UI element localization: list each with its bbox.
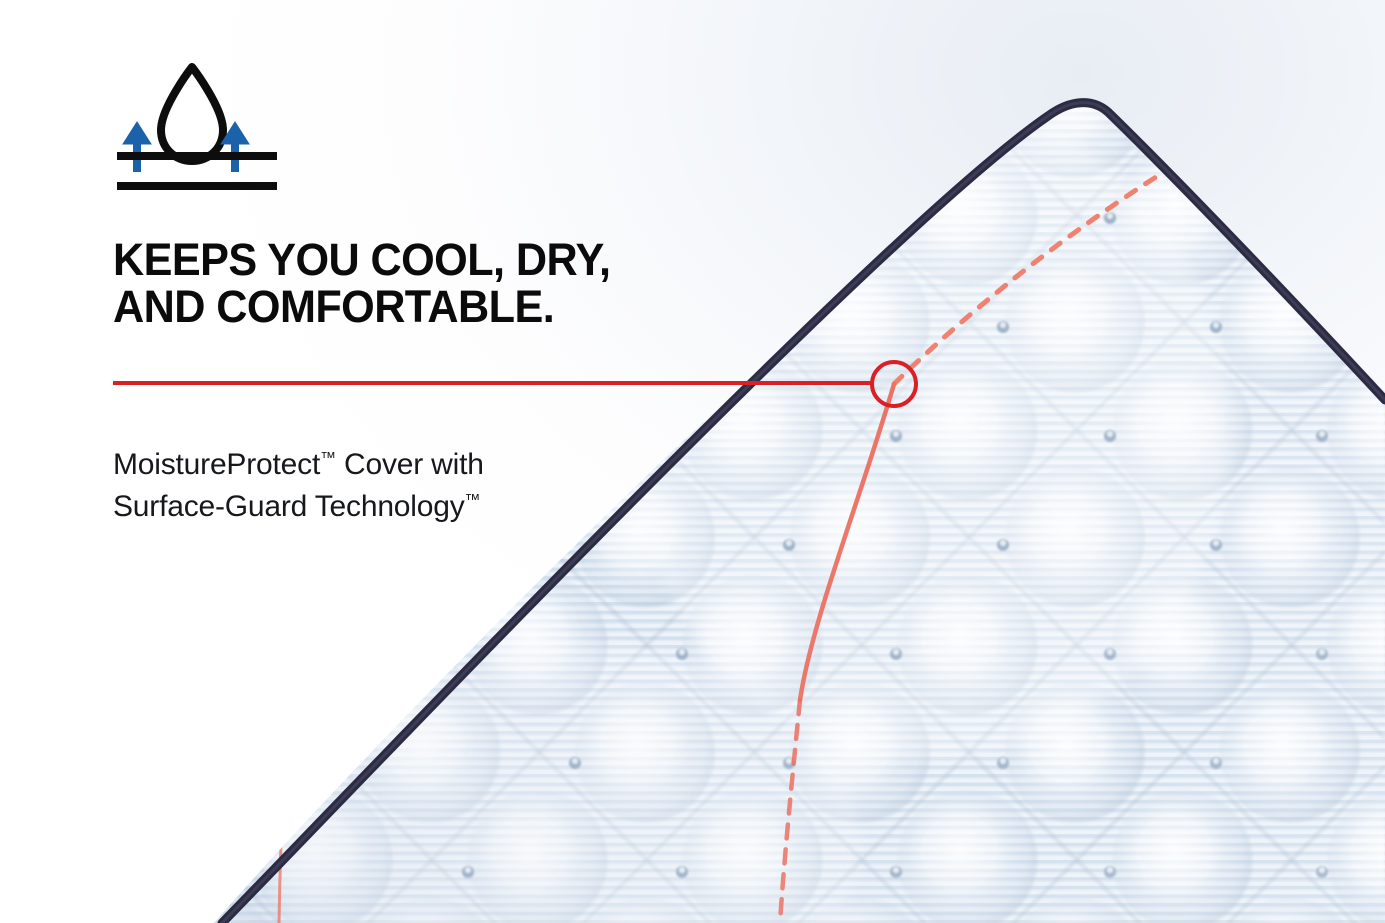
subcopy-product-name: MoistureProtect xyxy=(113,448,320,481)
subcopy-technology-name: Surface-Guard Technology xyxy=(113,490,465,523)
headline-rule-spacer xyxy=(113,330,753,392)
marketing-banner: KEEPS YOU COOL, DRY, AND COMFORTABLE. Mo… xyxy=(0,0,1385,923)
moisture-wicking-icon xyxy=(113,60,281,192)
feature-subcopy: MoistureProtect™ Cover withSurface-Guard… xyxy=(113,392,753,528)
feature-text-panel: KEEPS YOU COOL, DRY, AND COMFORTABLE. Mo… xyxy=(113,60,753,528)
page-headline: KEEPS YOU COOL, DRY, AND COMFORTABLE. xyxy=(113,192,727,330)
trademark-symbol-2: ™ xyxy=(465,492,481,509)
trademark-symbol-1: ™ xyxy=(320,450,336,467)
subcopy-line1-tail: Cover with xyxy=(336,448,484,481)
droplet-icon xyxy=(161,67,223,161)
